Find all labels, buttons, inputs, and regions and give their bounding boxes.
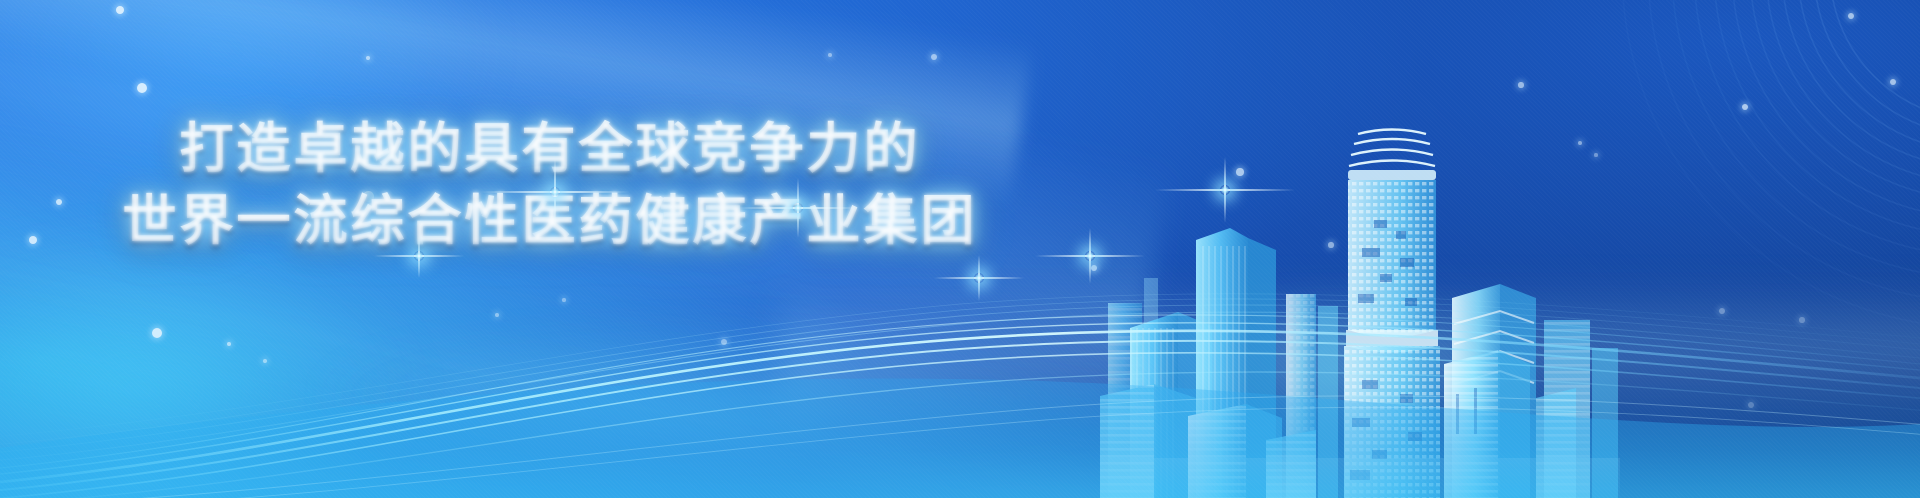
particle-dot	[1328, 242, 1333, 247]
particle-dot	[1848, 13, 1854, 19]
particle-dot	[721, 339, 727, 345]
hero-banner: 打造卓越的具有全球竞争力的 世界一流综合性医药健康产业集团	[0, 0, 1920, 498]
particle-dot	[1799, 317, 1804, 322]
horizon-mist	[780, 278, 1920, 438]
particle-dot	[1890, 79, 1896, 85]
headline-line-1: 打造卓越的具有全球竞争力的	[0, 118, 1100, 180]
particle-dot	[1236, 168, 1243, 175]
particle-dot	[1748, 402, 1754, 408]
city-skyline-icon	[1100, 98, 1620, 498]
particle-dot	[1578, 141, 1582, 145]
particle-dot	[828, 53, 832, 57]
particle-dot	[1719, 308, 1726, 315]
sparkle-flare-icon	[934, 255, 1024, 301]
sparkle-flare-icon	[1155, 157, 1295, 223]
headline: 打造卓越的具有全球竞争力的 世界一流综合性医药健康产业集团	[0, 118, 1100, 252]
headline-line-2: 世界一流综合性医药健康产业集团	[0, 190, 1100, 252]
particle-dot	[1091, 265, 1097, 271]
particle-dot	[1594, 153, 1598, 157]
particle-dot	[931, 54, 937, 60]
concentric-ripple-arcs-icon	[1510, 0, 1920, 490]
particle-dot	[1518, 82, 1523, 87]
particle-dot	[1742, 104, 1749, 111]
skyline-haze	[1080, 278, 1620, 478]
